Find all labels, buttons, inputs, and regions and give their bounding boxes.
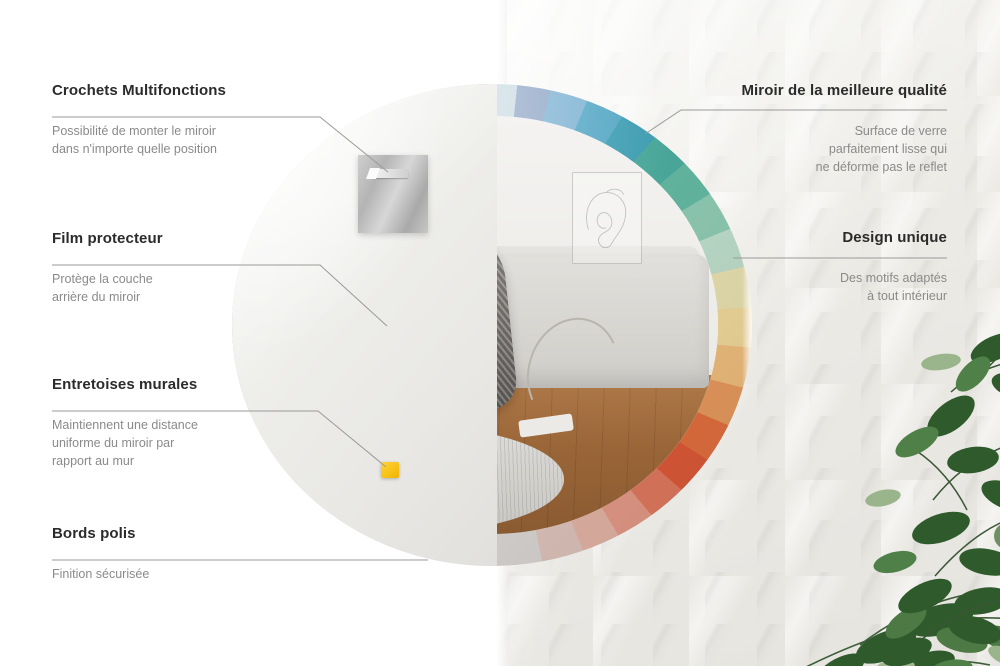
callout-title: Bords polis <box>52 525 425 542</box>
callout-description: Protège la couche arrière du miroir <box>52 270 320 306</box>
callout-entretoises-murales: Entretoises murales Maintiennent une dis… <box>52 376 320 470</box>
callout-title: Film protecteur <box>52 230 320 247</box>
callout-design-unique: Design unique Des motifs adaptés à tout … <box>679 229 947 305</box>
callout-line: Surface de verre <box>855 124 947 138</box>
callout-title: Miroir de la meilleure qualité <box>679 82 947 99</box>
wall-spacer-block <box>381 462 399 478</box>
callout-line: rapport au mur <box>52 454 134 468</box>
callout-line: Protège la couche <box>52 272 153 286</box>
callout-title: Design unique <box>679 229 947 246</box>
callout-miroir-meilleure-qualite: Miroir de la meilleure qualité Surface d… <box>679 82 947 176</box>
callout-line: dans n'importe quelle position <box>52 142 217 156</box>
callout-line: Possibilité de monter le miroir <box>52 124 216 138</box>
callout-line: ne déforme pas le reflet <box>816 160 947 174</box>
callout-description: Finition sécurisée <box>52 565 425 583</box>
callout-crochets-multifonctions: Crochets Multifonctions Possibilité de m… <box>52 82 320 158</box>
callout-line: Finition sécurisée <box>52 567 149 581</box>
callout-line: Des motifs adaptés <box>840 271 947 285</box>
infographic-canvas: Crochets Multifonctions Possibilité de m… <box>0 0 1000 666</box>
callout-description: Possibilité de monter le miroir dans n'i… <box>52 122 320 158</box>
callout-line: arrière du miroir <box>52 290 140 304</box>
callout-film-protecteur: Film protecteur Protège la couche arrièr… <box>52 230 320 306</box>
callout-line: uniforme du miroir par <box>52 436 174 450</box>
decorative-foliage-right <box>855 300 1000 666</box>
callout-line: Maintiennent une distance <box>52 418 198 432</box>
wall-hook-plate <box>358 155 428 233</box>
reflected-framed-line-art <box>572 172 642 264</box>
callout-bords-polis: Bords polis Finition sécurisée <box>52 525 425 583</box>
callout-description: Surface de verre parfaitement lisse qui … <box>679 122 947 176</box>
callout-description: Maintiennent une distance uniforme du mi… <box>52 416 320 470</box>
callout-line: parfaitement lisse qui <box>829 142 947 156</box>
hook-keyhole-slot <box>372 169 408 178</box>
callout-title: Entretoises murales <box>52 376 320 393</box>
callout-title: Crochets Multifonctions <box>52 82 320 99</box>
